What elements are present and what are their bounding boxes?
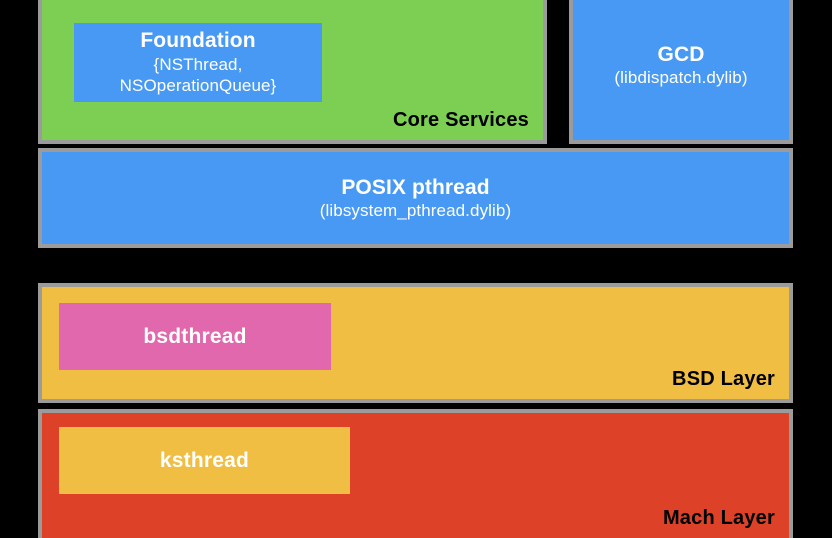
layer-caption-bsd: BSD Layer (672, 368, 775, 391)
layer-band-gcd: GCD (libdispatch.dylib) (569, 0, 793, 144)
layer-band-core-services: Foundation {NSThread, NSOperationQueue} … (38, 0, 547, 144)
component-gcd: GCD (libdispatch.dylib) (573, 0, 789, 140)
component-posix-pthread-title: POSIX pthread (341, 175, 489, 201)
layer-band-bsd: bsdthread BSD Layer (38, 283, 793, 403)
component-bsdthread: bsdthread (59, 303, 331, 370)
component-foundation-subtitle: {NSThread, NSOperationQueue} (74, 54, 322, 97)
component-foundation: Foundation {NSThread, NSOperationQueue} (74, 23, 322, 102)
component-ksthread: ksthread (59, 427, 350, 494)
component-posix-pthread: POSIX pthread (libsystem_pthread.dylib) (42, 152, 789, 244)
component-gcd-title: GCD (658, 42, 705, 68)
layer-caption-core-services: Core Services (393, 109, 529, 132)
layer-caption-mach: Mach Layer (663, 507, 775, 530)
layer-band-mach: ksthread Mach Layer (38, 409, 793, 538)
component-ksthread-title: ksthread (160, 449, 249, 473)
component-gcd-subtitle: (libdispatch.dylib) (614, 67, 747, 88)
component-foundation-title: Foundation (140, 28, 255, 54)
component-bsdthread-title: bsdthread (143, 325, 246, 349)
layer-band-posix-pthread: POSIX pthread (libsystem_pthread.dylib) (38, 148, 793, 248)
component-posix-pthread-subtitle: (libsystem_pthread.dylib) (320, 200, 511, 221)
diagram-canvas: Foundation {NSThread, NSOperationQueue} … (0, 0, 832, 538)
